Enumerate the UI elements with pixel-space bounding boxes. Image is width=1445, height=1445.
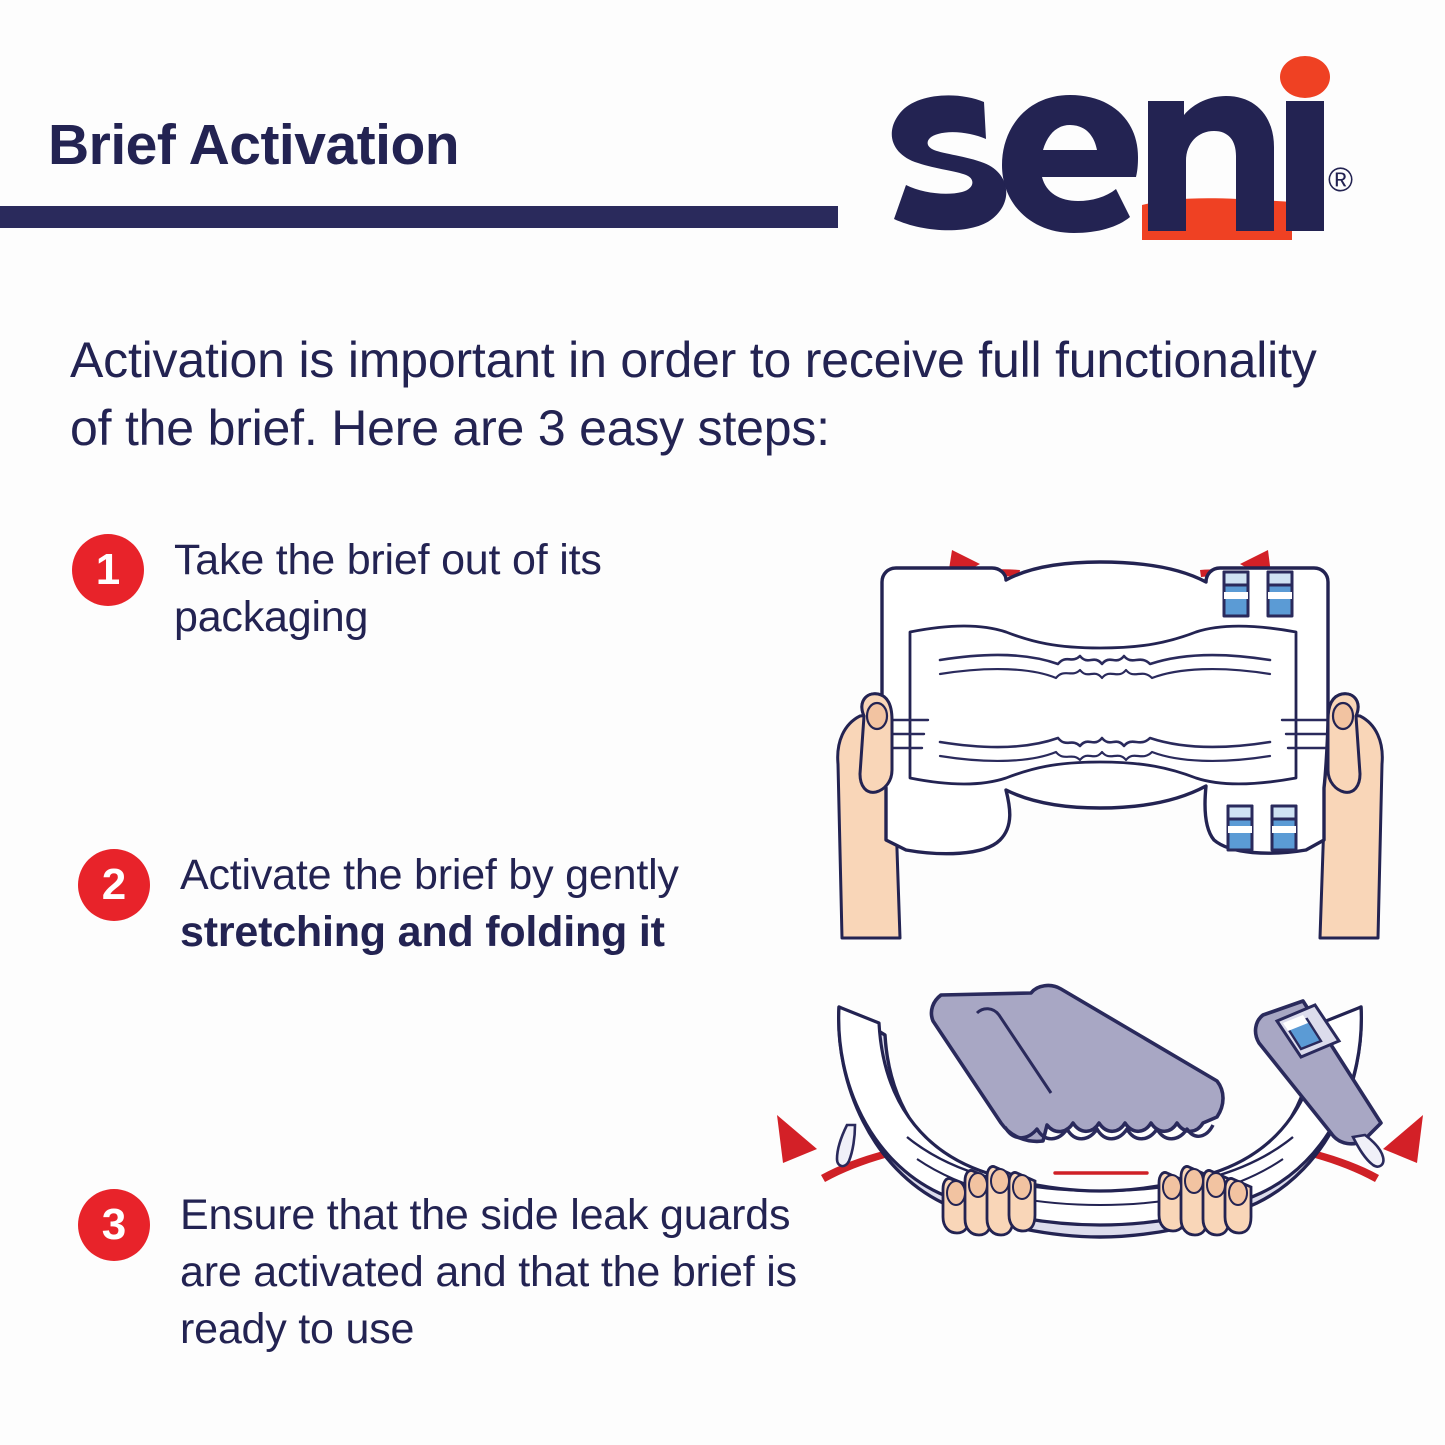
infographic-page: Brief Activation ® Activation is importa…	[0, 0, 1445, 1445]
step-number-badge-3: 3	[78, 1189, 150, 1261]
page-title: Brief Activation	[48, 112, 459, 178]
right-thumb-overlap	[1328, 694, 1360, 793]
brief-body-flat	[876, 562, 1334, 854]
fastening-tab-top-1	[1224, 572, 1248, 616]
header: Brief Activation ®	[0, 0, 1445, 290]
step-text-1-normal: Take the brief out of its packaging	[174, 536, 602, 641]
step-text-2-normal: Activate the brief by gently	[180, 851, 679, 899]
fastening-tab-top-2	[1268, 572, 1292, 616]
step-item-2: 2 Activate the brief by gently stretchin…	[78, 845, 738, 961]
fastening-tab-bottom-1	[1228, 806, 1252, 850]
step-number-badge-2: 2	[78, 849, 150, 921]
intro-paragraph: Activation is important in order to rece…	[70, 326, 1340, 462]
step-text-2: Activate the brief by gently stretching …	[180, 845, 738, 961]
step-text-3: Ensure that the side leak guards are act…	[180, 1185, 838, 1359]
illustration-brief-folded	[755, 965, 1445, 1275]
title-underline-bar	[0, 206, 838, 228]
step-item-3: 3 Ensure that the side leak guards are a…	[78, 1185, 838, 1359]
leak-guard-grey	[931, 986, 1223, 1142]
seni-logo: ®	[880, 55, 1380, 255]
step-number-badge-1: 1	[72, 534, 144, 606]
step-text-1: Take the brief out of its packaging	[174, 530, 732, 646]
seni-wordmark-icon	[880, 55, 1350, 255]
registered-trademark-icon: ®	[1328, 163, 1353, 197]
fastening-tab-bottom-2	[1272, 806, 1296, 850]
step-text-3-normal: Ensure that the side leak guards are act…	[180, 1191, 797, 1353]
left-thumb-overlap	[860, 694, 892, 793]
step-text-2-bold: stretching and folding it	[180, 908, 665, 956]
step-item-1: 1 Take the brief out of its packaging	[72, 530, 732, 646]
illustration-brief-held-flat	[800, 520, 1420, 940]
